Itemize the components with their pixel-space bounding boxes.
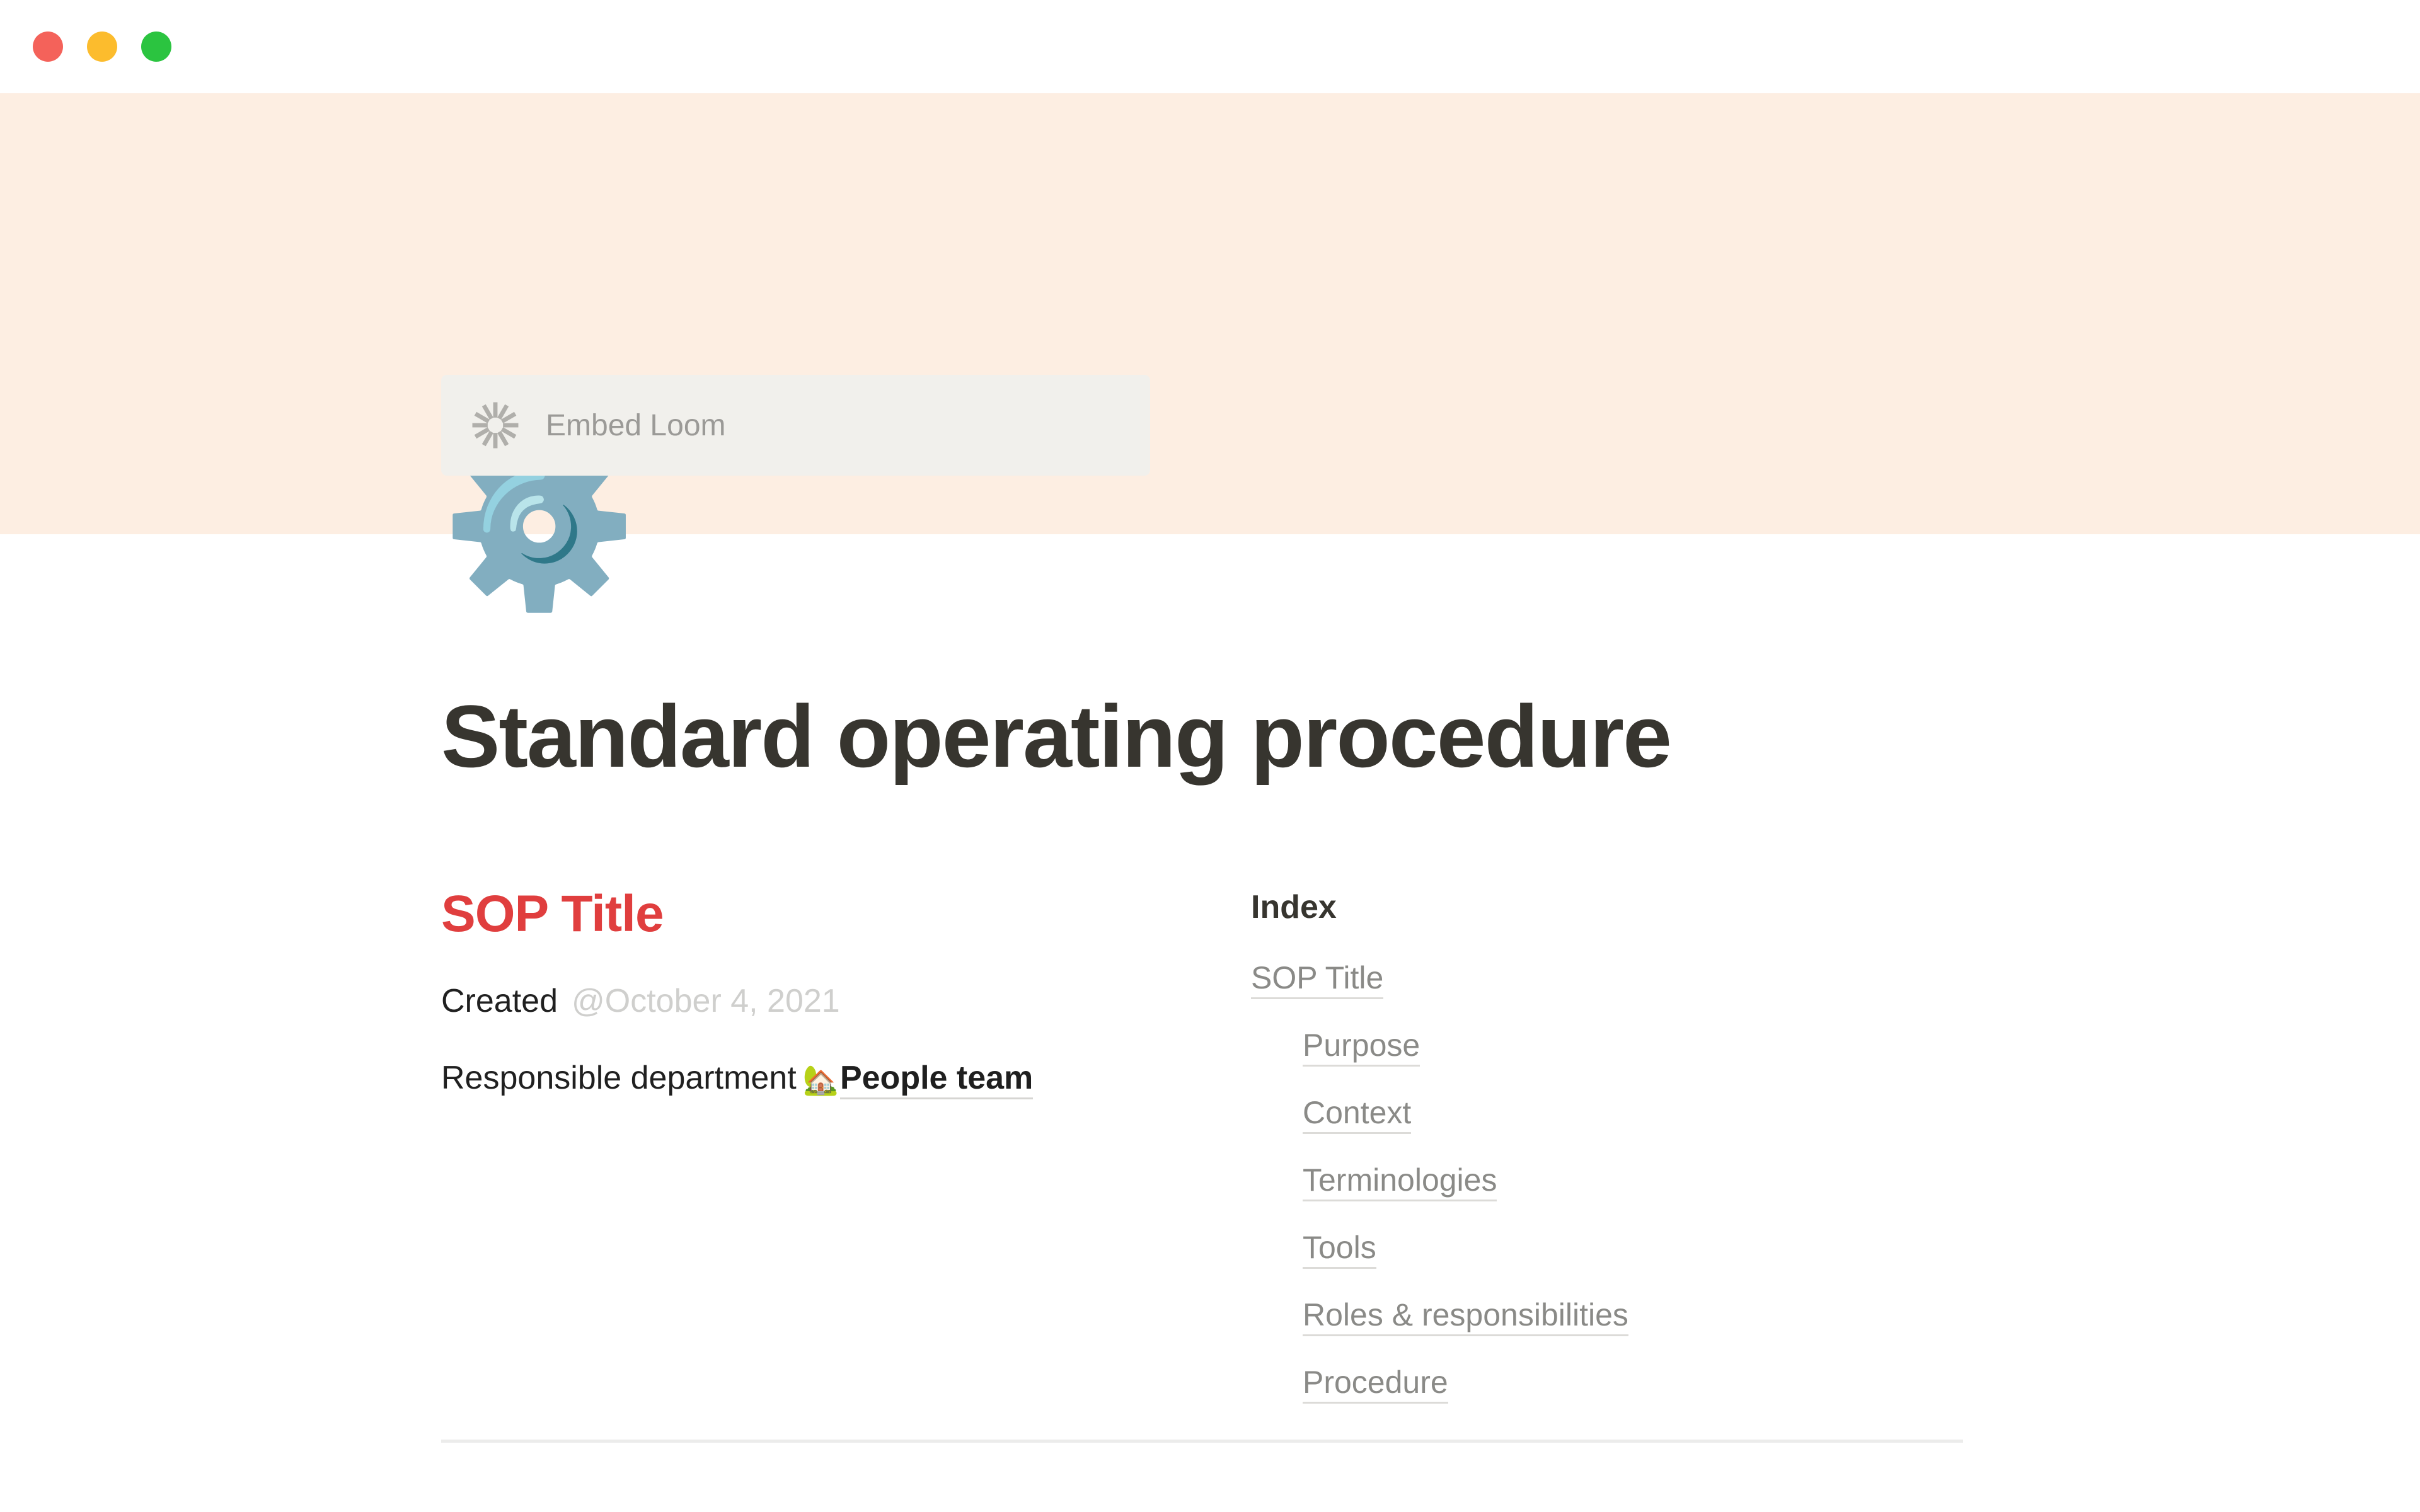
close-window-button[interactable] <box>33 31 63 62</box>
window-titlebar <box>0 0 2420 93</box>
index-link-roles-responsibilities[interactable]: Roles & responsibilities <box>1303 1297 1963 1333</box>
traffic-light-controls <box>33 31 171 62</box>
index-link-label: SOP Title <box>1251 960 1383 999</box>
loom-icon <box>471 401 519 449</box>
index-link-label: Terminologies <box>1303 1162 1497 1201</box>
left-column: SOP Title Created@October 4, 2021 Respon… <box>441 888 1185 1133</box>
created-date-value[interactable]: @October 4, 2021 <box>572 983 840 1019</box>
created-property-row: Created@October 4, 2021 <box>441 979 1185 1023</box>
index-link-procedure[interactable]: Procedure <box>1303 1364 1963 1400</box>
section-divider <box>441 1440 1963 1443</box>
index-column: Index SOP Title Purpose Context Terminol… <box>1251 888 1963 1431</box>
index-link-label: Purpose <box>1303 1028 1420 1067</box>
embed-loom-block[interactable]: Embed Loom <box>441 375 1150 476</box>
created-label: Created <box>441 983 558 1019</box>
index-link-terminologies[interactable]: Terminologies <box>1303 1162 1963 1198</box>
index-link-label: Tools <box>1303 1230 1376 1269</box>
index-link-sop-title[interactable]: SOP Title <box>1251 959 1963 996</box>
index-link-context[interactable]: Context <box>1303 1094 1963 1131</box>
index-link-label: Context <box>1303 1095 1411 1134</box>
index-heading: Index <box>1251 888 1963 926</box>
house-with-garden-emoji-icon: 🏡 <box>803 1063 839 1096</box>
app-window: ⚙️ Standard operating procedure SOP Titl… <box>0 0 2420 1512</box>
people-team-page-link[interactable]: People team <box>840 1060 1033 1099</box>
index-link-label: Procedure <box>1303 1365 1448 1404</box>
page-body <box>0 534 2420 1512</box>
index-link-purpose[interactable]: Purpose <box>1303 1027 1963 1063</box>
minimize-window-button[interactable] <box>87 31 117 62</box>
responsible-department-row: Responsible department🏡People team <box>441 1056 1185 1100</box>
embed-loom-label: Embed Loom <box>546 408 726 443</box>
index-link-tools[interactable]: Tools <box>1303 1229 1963 1266</box>
responsible-department-label: Responsible department <box>441 1060 797 1096</box>
maximize-window-button[interactable] <box>141 31 171 62</box>
page-cover-banner[interactable] <box>0 93 2420 534</box>
index-link-label: Roles & responsibilities <box>1303 1297 1628 1336</box>
page-title[interactable]: Standard operating procedure <box>441 685 1671 787</box>
sop-title-heading[interactable]: SOP Title <box>441 888 1185 940</box>
